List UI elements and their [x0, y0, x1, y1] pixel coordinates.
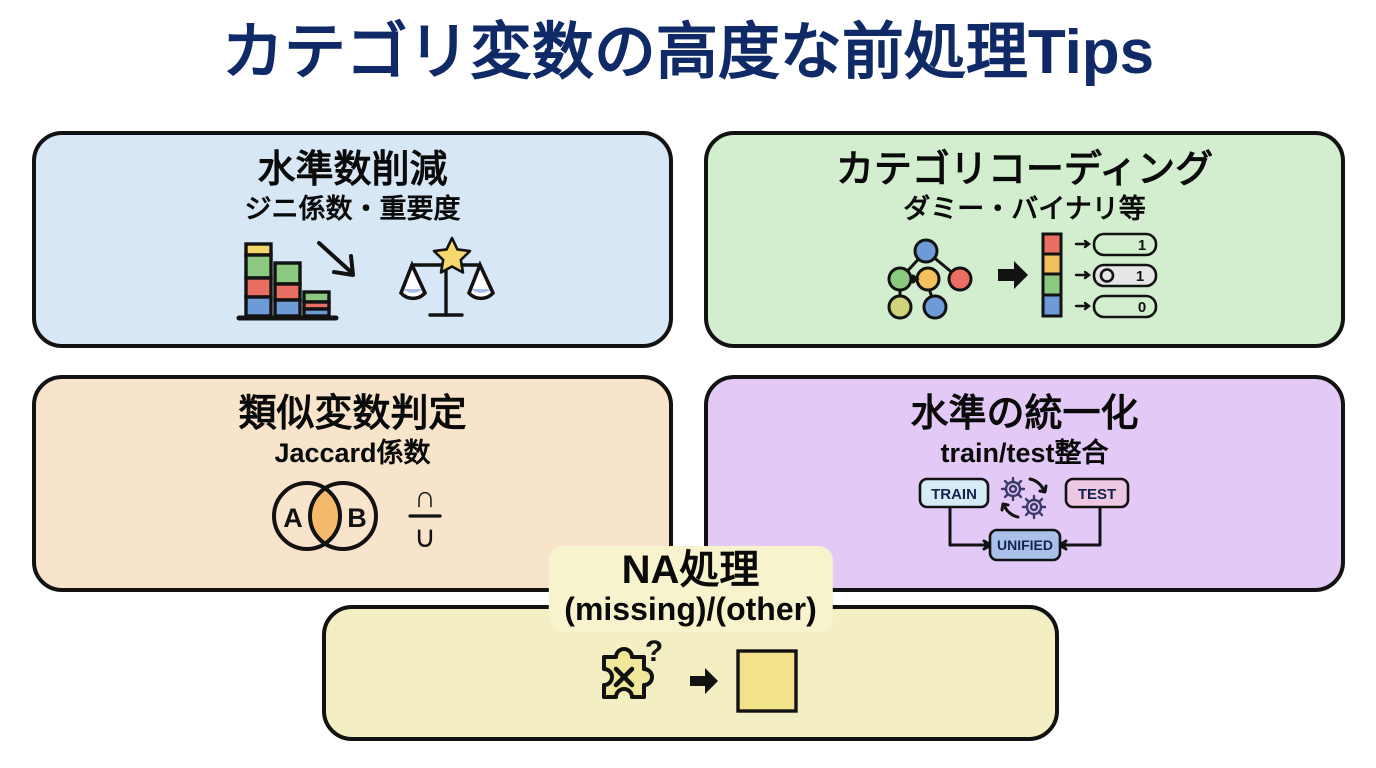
svg-text:1: 1: [1137, 237, 1145, 254]
svg-text:1: 1: [1135, 268, 1143, 285]
card-category-coding[interactable]: カテゴリコーディング ダミー・バイナリ等: [704, 131, 1345, 348]
question-mark-icon: ?: [644, 635, 662, 668]
svg-text:B: B: [347, 503, 367, 533]
card-na-handling[interactable]: NA処理 (missing)/(other) ?: [322, 605, 1059, 741]
page-title: カテゴリ変数の高度な前処理Tips: [0, 18, 1376, 87]
card-level-reduction-title: 水準数削減: [36, 149, 669, 192]
puzzle-piece-missing-icon: ?: [582, 639, 674, 723]
card-similar-variables-subtitle: Jaccard係数: [36, 438, 669, 469]
train-box-icon: TRAIN: [920, 479, 988, 507]
gears-icon: [1002, 478, 1046, 518]
encoded-pill-icon: 1 1 0: [1074, 231, 1160, 319]
card-level-unification-subtitle: train/test整合: [708, 438, 1341, 469]
card-level-reduction-subtitle: ジニ係数・重要度: [36, 194, 669, 225]
filled-square-icon: [734, 645, 800, 717]
svg-text:TRAIN: TRAIN: [931, 486, 977, 503]
right-arrow-icon: [688, 665, 720, 697]
svg-text:UNIFIED: UNIFIED: [997, 537, 1053, 553]
right-arrow-icon: [996, 258, 1030, 292]
card-level-unification-title: 水準の統一化: [708, 393, 1341, 436]
intersection-over-union-icon: ∩ ∪: [407, 477, 443, 555]
color-column-icon: [1040, 231, 1064, 319]
slide-canvas: カテゴリ変数の高度な前処理Tips 水準数削減 ジニ係数・重要度: [0, 0, 1376, 768]
train-test-unified-flow-icon: TRAIN TEST: [910, 473, 1140, 565]
card-na-handling-title: NA処理: [564, 548, 816, 593]
svg-text:∪: ∪: [414, 521, 436, 554]
card-category-coding-title: カテゴリコーディング: [708, 149, 1341, 192]
category-tree-icon: [890, 231, 986, 319]
star-icon: [432, 235, 472, 275]
venn-diagram-icon: A B: [263, 477, 387, 555]
card-level-reduction[interactable]: 水準数削減 ジニ係数・重要度: [32, 131, 673, 348]
test-box-icon: TEST: [1066, 479, 1128, 507]
down-right-arrow-icon: [312, 236, 364, 284]
svg-text:A: A: [283, 503, 303, 533]
card-na-handling-subtitle: (missing)/(other): [564, 591, 816, 628]
card-similar-variables-title: 類似変数判定: [36, 393, 669, 436]
svg-text:TEST: TEST: [1077, 486, 1115, 503]
card-na-handling-title-badge: NA処理 (missing)/(other): [548, 546, 832, 632]
card-category-coding-subtitle: ダミー・バイナリ等: [708, 194, 1341, 225]
svg-text:0: 0: [1137, 299, 1145, 316]
unified-box-icon: UNIFIED: [990, 530, 1060, 560]
svg-text:∩: ∩: [414, 481, 436, 514]
